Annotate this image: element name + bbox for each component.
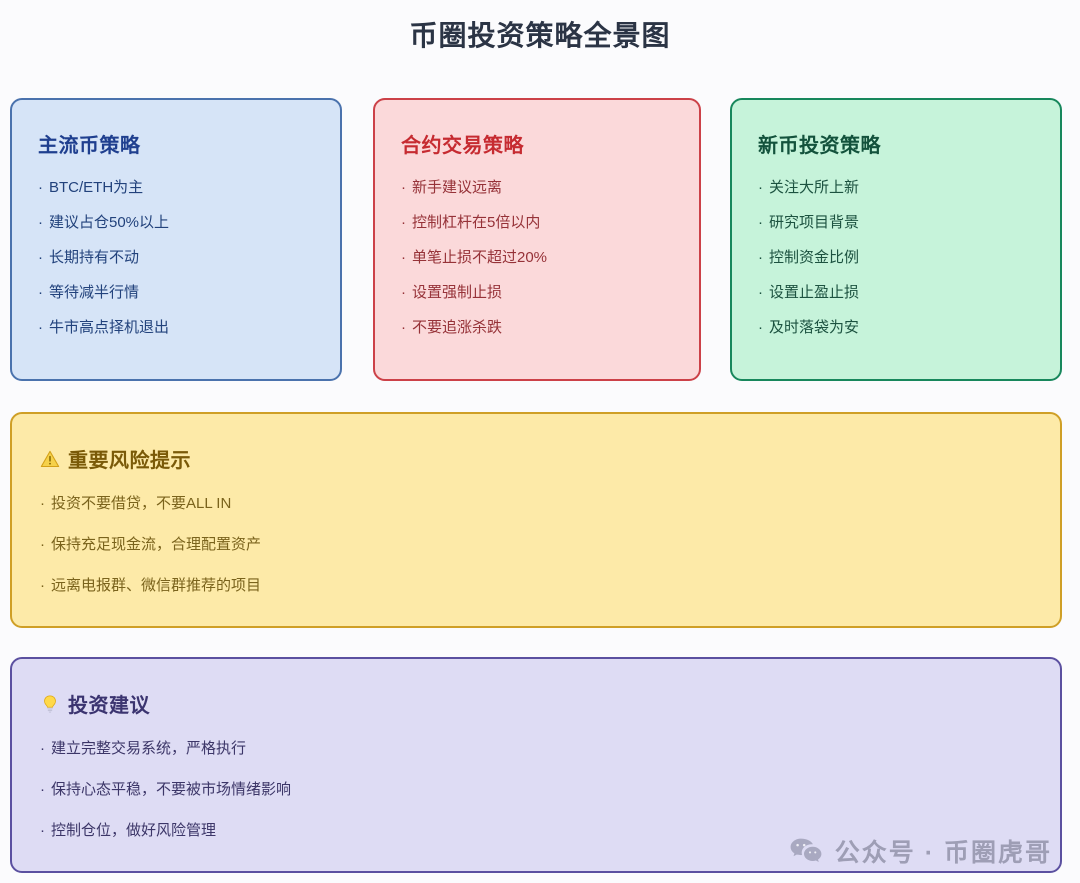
watermark-text: 公众号 · 币圈虎哥 [835,833,1052,869]
list-item: ·建立完整交易系统，严格执行 [40,741,291,756]
list-item: ·牛市高点择机退出 [38,320,169,335]
list-item: ·新手建议远离 [401,180,547,195]
list-item-label: 关注大所上新 [769,180,859,195]
list-item: ·设置强制止损 [401,285,547,300]
bullet-icon: · [758,250,763,265]
list-item: ·投资不要借贷，不要ALL IN [40,496,261,511]
list-item: ·控制杠杆在5倍以内 [401,215,547,230]
card-list-newcoin: ·关注大所上新 ·研究项目背景 ·控制资金比例 ·设置止盈止损 ·及时落袋为安 [758,180,859,355]
list-item: ·不要追涨杀跌 [401,320,547,335]
bullet-icon: · [40,578,45,593]
list-item-label: 控制杠杆在5倍以内 [412,215,540,230]
list-item-label: 建议占仓50%以上 [49,215,169,230]
list-item: ·BTC/ETH为主 [38,180,169,195]
bullet-icon: · [40,496,45,511]
card-newcoin-strategy: 新币投资策略 ·关注大所上新 ·研究项目背景 ·控制资金比例 ·设置止盈止损 ·… [730,98,1062,381]
wechat-icon [789,836,823,866]
bullet-icon: · [38,215,43,230]
card-list-mainstream: ·BTC/ETH为主 ·建议占仓50%以上 ·长期持有不动 ·等待减半行情 ·牛… [38,180,169,355]
list-item: ·等待减半行情 [38,285,169,300]
page-title: 币圈投资策略全景图 [0,14,1080,54]
list-item: ·及时落袋为安 [758,320,859,335]
bullet-icon: · [40,823,45,838]
bullet-icon: · [401,320,406,335]
bullet-icon: · [758,215,763,230]
list-item-label: 远离电报群、微信群推荐的项目 [51,578,261,593]
list-item-label: 保持充足现金流，合理配置资产 [51,537,261,552]
list-item: ·远离电报群、微信群推荐的项目 [40,578,261,593]
card-risk-warning: 重要风险提示 ·投资不要借贷，不要ALL IN ·保持充足现金流，合理配置资产 … [10,412,1062,628]
list-item: ·单笔止损不超过20% [401,250,547,265]
list-item-label: 控制仓位，做好风险管理 [51,823,216,838]
card-title-contract: 合约交易策略 [401,129,524,158]
card-title-newcoin: 新币投资策略 [758,129,881,158]
card-list-contract: ·新手建议远离 ·控制杠杆在5倍以内 ·单笔止损不超过20% ·设置强制止损 ·… [401,180,547,355]
list-item: ·研究项目背景 [758,215,859,230]
list-item: ·长期持有不动 [38,250,169,265]
list-item-label: 保持心态平稳，不要被市场情绪影响 [51,782,291,797]
bullet-icon: · [758,320,763,335]
card-title-risk-label: 重要风险提示 [68,444,191,473]
list-item: ·关注大所上新 [758,180,859,195]
list-item-label: 等待减半行情 [49,285,139,300]
list-item-label: 及时落袋为安 [769,320,859,335]
list-item-label: 建立完整交易系统，严格执行 [51,741,246,756]
list-item-label: 单笔止损不超过20% [412,250,547,265]
list-item-label: 设置止盈止损 [769,285,859,300]
list-item-label: 牛市高点择机退出 [49,320,169,335]
card-title-risk: 重要风险提示 [40,444,191,473]
list-item-label: 设置强制止损 [412,285,502,300]
card-title-advice: 投资建议 [40,689,150,718]
list-item-label: 新手建议远离 [412,180,502,195]
bullet-icon: · [38,180,43,195]
bullet-icon: · [40,782,45,797]
bullet-icon: · [40,741,45,756]
list-item-label: 长期持有不动 [49,250,139,265]
lightbulb-icon [40,694,60,714]
bullet-icon: · [40,537,45,552]
bullet-icon: · [38,250,43,265]
bullet-icon: · [401,180,406,195]
poster-root: 币圈投资策略全景图 主流币策略 ·BTC/ETH为主 ·建议占仓50%以上 ·长… [0,0,1080,883]
bullet-icon: · [38,285,43,300]
list-item: ·控制资金比例 [758,250,859,265]
bullet-icon: · [758,285,763,300]
card-mainstream-strategy: 主流币策略 ·BTC/ETH为主 ·建议占仓50%以上 ·长期持有不动 ·等待减… [10,98,342,381]
bullet-icon: · [758,180,763,195]
list-item-label: 投资不要借贷，不要ALL IN [51,496,231,511]
card-list-advice: ·建立完整交易系统，严格执行 ·保持心态平稳，不要被市场情绪影响 ·控制仓位，做… [40,741,291,864]
list-item: ·建议占仓50%以上 [38,215,169,230]
list-item: ·保持充足现金流，合理配置资产 [40,537,261,552]
list-item-label: 控制资金比例 [769,250,859,265]
bullet-icon: · [401,250,406,265]
card-title-mainstream: 主流币策略 [38,129,141,158]
bullet-icon: · [401,215,406,230]
list-item: ·设置止盈止损 [758,285,859,300]
warning-triangle-icon [40,449,60,469]
list-item-label: 不要追涨杀跌 [412,320,502,335]
list-item-label: 研究项目背景 [769,215,859,230]
list-item: ·保持心态平稳，不要被市场情绪影响 [40,782,291,797]
card-contract-strategy: 合约交易策略 ·新手建议远离 ·控制杠杆在5倍以内 ·单笔止损不超过20% ·设… [373,98,701,381]
bullet-icon: · [38,320,43,335]
list-item-label: BTC/ETH为主 [49,180,143,195]
card-title-advice-label: 投资建议 [68,689,150,718]
watermark: 公众号 · 币圈虎哥 [789,833,1052,869]
bullet-icon: · [401,285,406,300]
list-item: ·控制仓位，做好风险管理 [40,823,291,838]
card-list-risk: ·投资不要借贷，不要ALL IN ·保持充足现金流，合理配置资产 ·远离电报群、… [40,496,261,619]
